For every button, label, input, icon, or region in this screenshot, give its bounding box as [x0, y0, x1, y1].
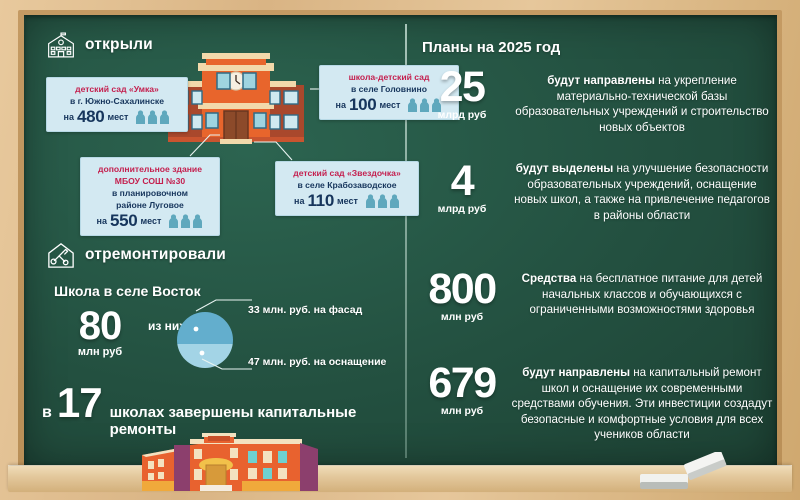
colorful-school-illustration: [132, 433, 328, 495]
plan-lead: будут направлены: [547, 74, 655, 87]
card-quantity: на 110 мест: [284, 192, 410, 210]
plan-row-679: 679 млн руб будут направлены на капиталь…: [419, 363, 789, 443]
card-subtitle: в г. Южно-Сахалинске: [55, 95, 179, 107]
section-header-repaired: отремонтировали: [46, 241, 226, 269]
plan-amount: 4 млрд руб: [419, 161, 505, 215]
card-subtitle-2: районе Луговое: [89, 199, 211, 211]
qty-unit: мест: [107, 112, 128, 122]
plan-lead: Средства: [522, 272, 577, 285]
qty-number: 550: [110, 212, 137, 230]
qty-prefix: на: [64, 112, 74, 122]
repaired-total: 80 млн руб: [54, 307, 146, 358]
card-title: детский сад «Звездочка»: [284, 167, 410, 179]
qty-prefix: на: [294, 196, 304, 206]
card-quantity: на 480 мест: [55, 108, 179, 126]
people-icons: [365, 194, 400, 209]
plan-amount: 25 млрд руб: [419, 67, 505, 121]
repaired-total-unit: млн руб: [54, 346, 146, 358]
qty-prefix: на: [336, 100, 346, 110]
right-column: Планы на 2025 год 25 млрд руб будут напр…: [413, 15, 777, 467]
card-title: детский сад «Умка»: [55, 83, 179, 95]
plan-amount-value: 800: [419, 269, 505, 309]
info-card-mbou-30[interactable]: дополнительное здание МБОУ СОШ №30 в пла…: [80, 157, 220, 236]
house-repair-icon: [46, 241, 76, 269]
info-card-zvezdochka[interactable]: детский сад «Звездочка» в селе Крабозаво…: [275, 161, 419, 216]
plan-amount-value: 4: [419, 161, 505, 201]
info-card-umka[interactable]: детский сад «Умка» в г. Южно-Сахалинске …: [46, 77, 188, 132]
plan-description: Средства на бесплатное питание для детей…: [505, 269, 773, 318]
repaired-total-value: 80: [54, 307, 146, 345]
plan-lead: будут выделены: [516, 162, 614, 175]
plan-amount-unit: млрд руб: [419, 109, 505, 121]
plan-description: будут направлены на капитальный ремонт ш…: [505, 363, 773, 443]
plan-amount-value: 679: [419, 363, 505, 403]
card-subtitle: в планировочном: [89, 187, 211, 199]
card-title: дополнительное здание: [89, 163, 211, 175]
section-label-repaired: отремонтировали: [85, 246, 226, 264]
plan-amount-unit: млрд руб: [419, 203, 505, 215]
qty-number: 100: [349, 96, 376, 114]
qty-number: 480: [77, 108, 104, 126]
plan-row-800: 800 млн руб Средства на бесплатное питан…: [419, 269, 789, 323]
people-icons: [135, 110, 170, 125]
qty-unit: мест: [379, 100, 400, 110]
people-icons: [168, 214, 203, 229]
chalk-erasers: [632, 452, 742, 494]
card-title-2: МБОУ СОШ №30: [89, 175, 211, 187]
card-quantity: на 550 мест: [89, 212, 211, 230]
qty-prefix: на: [97, 216, 107, 226]
plans-title: Планы на 2025 год: [422, 39, 560, 56]
schools-count: 17: [57, 383, 102, 423]
schools-repaired-line: в 17 школах завершены капитальные ремонт…: [42, 383, 405, 438]
pie-label-equipment: 47 млн. руб. на оснащение: [248, 356, 386, 368]
plan-row-25: 25 млрд руб будут направлены на укреплен…: [419, 67, 789, 135]
left-column: открыли: [24, 15, 405, 467]
plan-amount: 800 млн руб: [419, 269, 505, 323]
plan-lead: будут направлены: [522, 366, 630, 379]
qty-unit: мест: [337, 196, 358, 206]
plan-row-4: 4 млрд руб будут выделены на улучшение б…: [419, 161, 789, 223]
pie-label-facade: 33 млн. руб. на фасад: [248, 304, 362, 316]
schools-prefix: в: [42, 404, 52, 422]
plan-amount: 679 млн руб: [419, 363, 505, 417]
plan-amount-value: 25: [419, 67, 505, 107]
card-subtitle: в селе Крабозаводское: [284, 179, 410, 191]
qty-unit: мест: [140, 216, 161, 226]
qty-number: 110: [307, 192, 334, 210]
plan-description: будут выделены на улучшение безопасности…: [505, 161, 773, 223]
plan-description: будут направлены на укрепление материаль…: [505, 67, 773, 135]
